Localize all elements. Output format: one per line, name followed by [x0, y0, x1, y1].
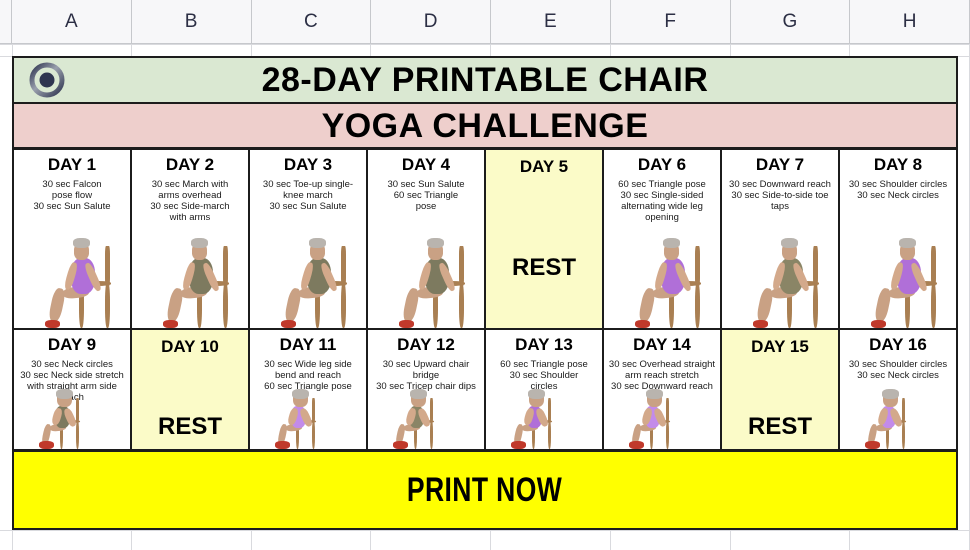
spreadsheet-canvas: ABCDEFGH 28-DAY PRINTABLE CHAIR: [0, 0, 970, 550]
day-title: DAY 4: [402, 156, 450, 174]
chair-shape: [813, 282, 818, 328]
day-title: DAY 11: [280, 336, 337, 354]
column-header-e[interactable]: E: [491, 0, 611, 43]
day-title: DAY 1: [48, 156, 96, 174]
chair-shape: [931, 282, 936, 328]
exercise-photo: [604, 232, 720, 328]
hair-shape: [292, 389, 309, 399]
column-header-a[interactable]: A: [12, 0, 132, 43]
column-header-g[interactable]: G: [731, 0, 851, 43]
chair-shape: [312, 420, 315, 449]
shoulder-circles: [855, 232, 941, 328]
day-title: DAY 10: [161, 338, 219, 356]
column-header-b[interactable]: B: [132, 0, 252, 43]
chair-shape: [666, 420, 669, 449]
rest-label: REST: [722, 413, 838, 441]
hair-shape: [781, 238, 798, 248]
exercise-photo: [132, 232, 248, 328]
chair-shape: [931, 246, 936, 286]
day-title: DAY 14: [633, 336, 691, 354]
shoulder-circles-2: [855, 391, 941, 449]
chair-yoga-poster: 28-DAY PRINTABLE CHAIR YOGA CHALLENGE DA…: [12, 56, 958, 530]
shoe-shape: [629, 441, 644, 449]
hair-shape: [309, 238, 326, 248]
day-cell-day-13[interactable]: DAY 1360 sec Triangle pose 30 sec Should…: [486, 330, 604, 449]
chair-shape: [105, 246, 110, 286]
day-title: DAY 8: [874, 156, 922, 174]
exercise-photo: [368, 232, 484, 328]
shoe-shape: [511, 441, 526, 449]
day-description: 30 sec Sun Salute 60 sec Triangle pose: [384, 179, 467, 213]
chair-shape: [312, 398, 315, 423]
exercise-photo: [840, 391, 956, 449]
overhead-arm-reach: [619, 391, 705, 449]
exercise-photo: [604, 391, 720, 449]
column-header-c[interactable]: C: [252, 0, 372, 43]
day-cell-day-1[interactable]: DAY 130 sec Falcon pose flow 30 sec Sun …: [14, 150, 132, 328]
seated-march-arms: [147, 232, 233, 328]
chair-shape: [695, 246, 700, 286]
shoe-shape: [635, 320, 650, 328]
row-header-gutter: [0, 0, 12, 43]
day-cell-day-6[interactable]: DAY 660 sec Triangle pose 30 sec Single-…: [604, 150, 722, 328]
shoe-shape: [871, 320, 886, 328]
day-title: DAY 9: [48, 336, 96, 354]
day-row-1: DAY 130 sec Falcon pose flow 30 sec Sun …: [14, 150, 956, 330]
chair-shape: [430, 420, 433, 449]
day-description: 30 sec March with arms overhead 30 sec S…: [147, 179, 232, 224]
column-header-f[interactable]: F: [611, 0, 731, 43]
neck-side-stretch: [29, 391, 115, 449]
hair-shape: [663, 238, 680, 248]
wide-leg-side-bend: [265, 391, 351, 449]
shoe-shape: [865, 441, 880, 449]
shoe-shape: [45, 320, 60, 328]
chair-shape: [548, 420, 551, 449]
day-description: 60 sec Triangle pose 30 sec Shoulder cir…: [497, 359, 591, 393]
day-description: 30 sec Toe-up single- knee march 30 sec …: [260, 179, 356, 213]
exercise-photo: [486, 391, 602, 449]
exercise-photo: [14, 232, 130, 328]
day-title: DAY 13: [515, 336, 573, 354]
chair-shape: [548, 398, 551, 423]
falcon-pose-dip: [29, 232, 115, 328]
chair-shape: [459, 246, 464, 286]
hair-shape: [427, 238, 444, 248]
day-description: 30 sec Shoulder circles 30 sec Neck circ…: [846, 359, 950, 381]
day-cell-day-14[interactable]: DAY 1430 sec Overhead straight arm reach…: [604, 330, 722, 449]
day-cell-day-8[interactable]: DAY 830 sec Shoulder circles 30 sec Neck…: [840, 150, 956, 328]
day-cell-day-9[interactable]: DAY 930 sec Neck circles 30 sec Neck sid…: [14, 330, 132, 449]
triangle-pose-seated: [501, 391, 587, 449]
shoe-shape: [753, 320, 768, 328]
day-cell-day-12[interactable]: DAY 1230 sec Upward chair bridge 30 sec …: [368, 330, 486, 449]
shoe-shape: [275, 441, 290, 449]
chair-shape: [76, 398, 79, 423]
hair-shape: [646, 389, 663, 399]
day-description: 30 sec Upward chair bridge 30 sec Tricep…: [373, 359, 479, 393]
day-cell-day-16[interactable]: DAY 1630 sec Shoulder circles 30 sec Nec…: [840, 330, 956, 449]
chair-shape: [695, 282, 700, 328]
wide-leg-opening: [619, 232, 705, 328]
shoe-shape: [399, 320, 414, 328]
day-description: 30 sec Wide leg side bend and reach 60 s…: [261, 359, 355, 393]
day-description: 30 sec Downward reach 30 sec Side-to-sid…: [726, 179, 834, 213]
column-header-row: ABCDEFGH: [0, 0, 970, 44]
hair-shape: [882, 389, 899, 399]
day-title: DAY 15: [751, 338, 809, 356]
grid-hline: [0, 44, 970, 45]
print-now-cta[interactable]: PRINT NOW: [14, 452, 956, 528]
day-row-2: DAY 930 sec Neck circles 30 sec Neck sid…: [14, 330, 956, 452]
day-title: DAY 5: [520, 158, 568, 176]
hair-shape: [56, 389, 73, 399]
hair-shape: [899, 238, 916, 248]
day-title: DAY 2: [166, 156, 214, 174]
day-description: 30 sec Overhead straight arm reach stret…: [606, 359, 718, 393]
day-description: 60 sec Triangle pose 30 sec Single-sided…: [615, 179, 709, 224]
shoe-shape: [163, 320, 178, 328]
hair-shape: [191, 238, 208, 248]
downward-reach: [737, 232, 823, 328]
day-cell-day-3[interactable]: DAY 330 sec Toe-up single- knee march 30…: [250, 150, 368, 328]
chair-shape: [902, 398, 905, 423]
day-cell-day-5[interactable]: DAY 5REST: [486, 150, 604, 328]
poster-title-line1: 28-DAY PRINTABLE CHAIR: [262, 63, 709, 97]
poster-title-line2: YOGA CHALLENGE: [322, 109, 649, 143]
day-title: DAY 16: [869, 336, 927, 354]
day-description: 30 sec Shoulder circles 30 sec Neck circ…: [846, 179, 950, 201]
shoe-shape: [281, 320, 296, 328]
day-title: DAY 6: [638, 156, 686, 174]
exercise-photo: [722, 232, 838, 328]
toe-up-knee-march: [265, 232, 351, 328]
day-cell-day-7[interactable]: DAY 730 sec Downward reach 30 sec Side-t…: [722, 150, 840, 328]
chair-shape: [76, 420, 79, 449]
rest-label: REST: [486, 254, 602, 282]
exercise-photo: [14, 391, 130, 449]
upward-chair-bridge: [383, 391, 469, 449]
shoe-shape: [393, 441, 408, 449]
chair-shape: [430, 398, 433, 423]
target-ring-icon: [28, 61, 66, 99]
sun-salute-seated: [383, 232, 469, 328]
chair-shape: [459, 282, 464, 328]
chair-shape: [902, 420, 905, 449]
chair-shape: [813, 246, 818, 286]
column-header-h[interactable]: H: [850, 0, 970, 43]
day-title: DAY 7: [756, 156, 804, 174]
chair-shape: [341, 246, 346, 286]
exercise-photo: [840, 232, 956, 328]
exercise-photo: [250, 232, 366, 328]
day-cell-day-4[interactable]: DAY 430 sec Sun Salute 60 sec Triangle p…: [368, 150, 486, 328]
hair-shape: [410, 389, 427, 399]
rest-label: REST: [132, 413, 248, 441]
print-now-label: PRINT NOW: [407, 471, 562, 510]
shoe-shape: [39, 441, 54, 449]
chair-shape: [666, 398, 669, 423]
grid-hline: [0, 530, 970, 531]
day-title: DAY 3: [284, 156, 332, 174]
day-cell-day-11[interactable]: DAY 1130 sec Wide leg side bend and reac…: [250, 330, 368, 449]
day-cell-day-10[interactable]: DAY 10REST: [132, 330, 250, 449]
day-description: 30 sec Falcon pose flow 30 sec Sun Salut…: [30, 179, 113, 213]
day-cell-day-15[interactable]: DAY 15REST: [722, 330, 840, 449]
day-cell-day-2[interactable]: DAY 230 sec March with arms overhead 30 …: [132, 150, 250, 328]
chair-shape: [223, 282, 228, 328]
day-title: DAY 12: [397, 336, 455, 354]
poster-title-band-2: YOGA CHALLENGE: [14, 104, 956, 150]
chair-shape: [223, 246, 228, 286]
exercise-photo: [368, 391, 484, 449]
hair-shape: [528, 389, 545, 399]
column-header-d[interactable]: D: [371, 0, 491, 43]
chair-shape: [341, 282, 346, 328]
chair-shape: [105, 282, 110, 328]
poster-title-band: 28-DAY PRINTABLE CHAIR: [14, 58, 956, 104]
hair-shape: [73, 238, 90, 248]
exercise-photo: [250, 391, 366, 449]
